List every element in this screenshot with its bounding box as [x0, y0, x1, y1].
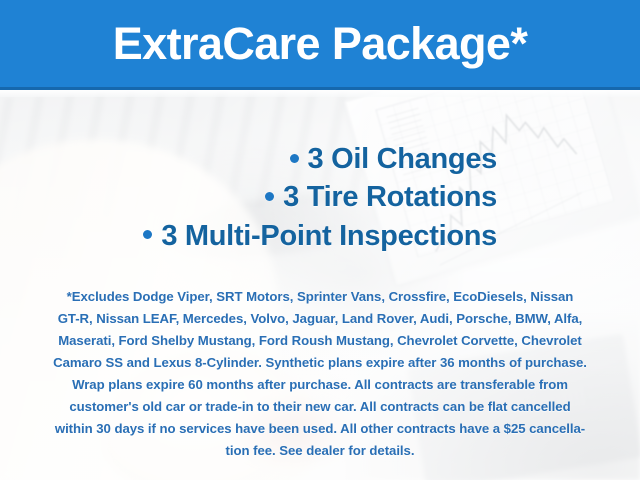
disclaimer-line: Maserati, Ford Shelby Mustang, Ford Rous… — [26, 330, 614, 352]
benefits-list: 3 Oil Changes 3 Tire Rotations 3 Multi-P… — [0, 140, 497, 255]
benefit-label: 3 Tire Rotations — [283, 181, 497, 213]
disclaimer-line: GT-R, Nissan LEAF, Mercedes, Volvo, Jagu… — [26, 308, 614, 330]
benefit-label: 3 Oil Changes — [308, 143, 498, 175]
disclaimer-block: *Excludes Dodge Viper, SRT Motors, Sprin… — [26, 286, 614, 462]
bullet-icon — [290, 154, 299, 163]
list-item: 3 Tire Rotations — [0, 178, 497, 216]
disclaimer-line: Camaro SS and Lexus 8-Cylinder. Syntheti… — [26, 352, 614, 374]
disclaimer-line: *Excludes Dodge Viper, SRT Motors, Sprin… — [26, 286, 614, 308]
list-item: 3 Oil Changes — [0, 140, 497, 178]
header-banner: ExtraCare Package* — [0, 0, 640, 90]
disclaimer-line: tion fee. See dealer for details. — [26, 440, 614, 462]
disclaimer-line: customer's old car or trade-in to their … — [26, 396, 614, 418]
disclaimer-line: within 30 days if no services have been … — [26, 418, 614, 440]
list-item: 3 Multi-Point Inspections — [0, 217, 497, 255]
promo-graphic: ExtraCare Package* 3 Oil Changes 3 Tire … — [0, 0, 640, 480]
page-title: ExtraCare Package* — [113, 21, 527, 66]
bullet-icon — [143, 230, 152, 239]
disclaimer-line: Wrap plans expire 60 months after purcha… — [26, 374, 614, 396]
banner-sheen-divider — [0, 90, 640, 97]
bullet-icon — [265, 192, 274, 201]
benefit-label: 3 Multi-Point Inspections — [161, 220, 497, 252]
